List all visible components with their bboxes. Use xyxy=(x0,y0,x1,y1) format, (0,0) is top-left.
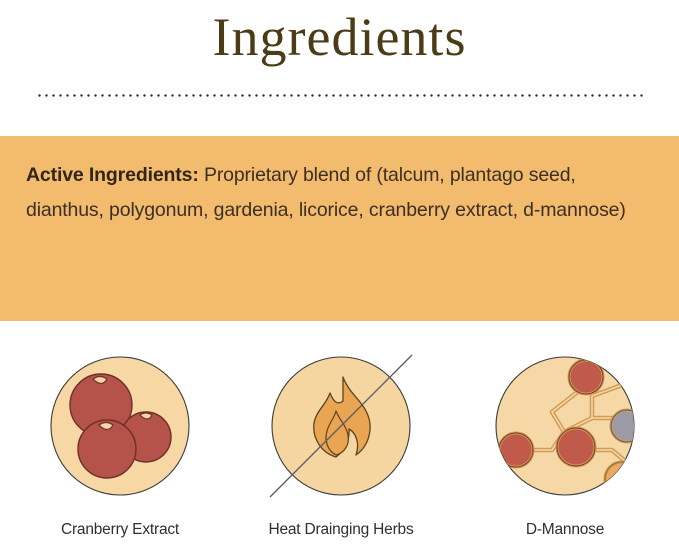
no-flame-icon xyxy=(272,357,410,495)
page-title: Ingredients xyxy=(0,0,679,70)
icon-label-cranberry-extract: Cranberry Extract xyxy=(7,520,233,540)
molecule-icon xyxy=(496,357,634,495)
icon-cell-heat-draining-herbs: Heat Drainging Herbs xyxy=(228,330,454,556)
dotted-divider xyxy=(36,94,646,97)
benefit-icon-row: Cranberry Extract Heat Drainging Herbs xyxy=(0,330,679,556)
active-ingredients-label: Active Ingredients: xyxy=(26,164,199,186)
icon-cell-cranberry-extract: Cranberry Extract xyxy=(7,330,233,556)
active-ingredients-text: Active Ingredients: Proprietary blend of… xyxy=(26,158,651,228)
icon-cell-d-mannose: D-Mannose xyxy=(452,330,678,556)
cranberry-berries-icon xyxy=(51,357,189,495)
icon-label-heat-draining-herbs: Heat Drainging Herbs xyxy=(228,520,454,540)
active-ingredients-panel: Active Ingredients: Proprietary blend of… xyxy=(0,136,679,321)
icon-label-d-mannose: D-Mannose xyxy=(452,520,678,540)
